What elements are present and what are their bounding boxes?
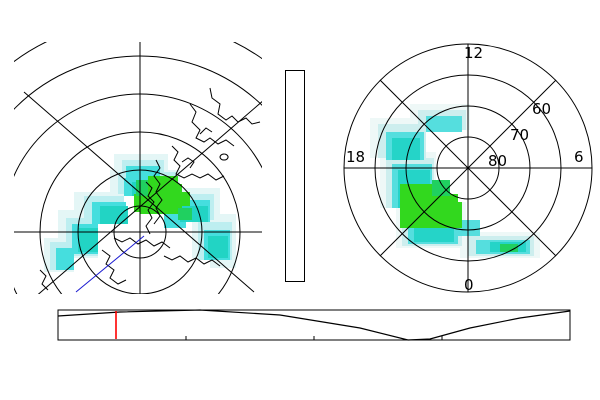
apex-mlt-label-18: 18 [346, 148, 365, 166]
apex-dial-panel[interactable]: 12 6 0 18 60 70 80 [340, 42, 596, 294]
status-row-2 [0, 381, 600, 397]
apex-mlt-label-6: 6 [574, 148, 584, 166]
colorbar-gradient[interactable] [285, 70, 305, 282]
apex-mlat-label-60: 60 [532, 100, 551, 118]
apex-mlat-label-70: 70 [510, 126, 529, 144]
apex-mlt-label-12: 12 [464, 44, 483, 62]
apex-mlat-label-80: 80 [488, 152, 507, 170]
altitude-timeline-plot[interactable] [0, 296, 600, 354]
apex-mlt-label-0: 0 [464, 276, 474, 294]
status-bar [0, 364, 600, 400]
apex-grid [344, 44, 592, 292]
geographic-image-panel[interactable] [14, 42, 262, 294]
status-row-1 [0, 364, 600, 380]
